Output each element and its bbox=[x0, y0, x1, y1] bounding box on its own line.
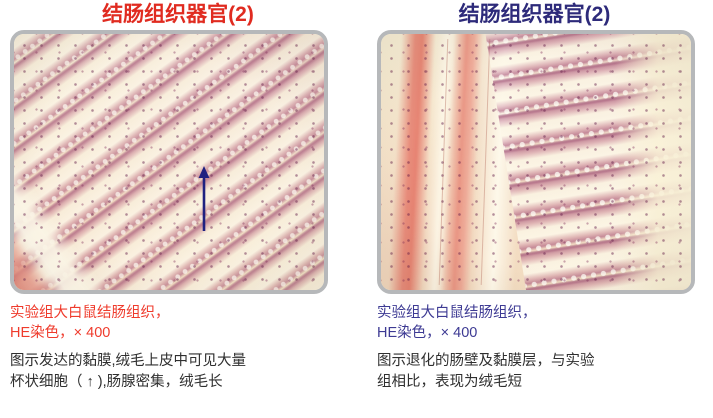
panel-control: 结肠组织器官(2) 实验组大白鼠结肠组织， HE染色，× 400 图示退化的肠壁… bbox=[356, 0, 713, 418]
up-arrow-annotation-icon bbox=[197, 165, 211, 231]
page-title-left: 结肠组织器官(2) bbox=[0, 0, 356, 30]
figure-description-left: 图示发达的黏膜,绒毛上皮中可见大量 杯状细胞（ ↑ ),肠腺密集，绒毛长 bbox=[10, 351, 356, 393]
micrograph-image-right bbox=[381, 34, 691, 290]
figure-caption-left: 实验组大白鼠结肠组织， HE染色，× 400 bbox=[10, 303, 356, 343]
comparison-board: 结肠组织器官(2) 实验组大白鼠结肠组织， HE染色，× 400 图示发达的黏膜… bbox=[0, 0, 713, 418]
panel-experimental: 结肠组织器官(2) 实验组大白鼠结肠组织， HE染色，× 400 图示发达的黏膜… bbox=[0, 0, 356, 418]
vignette bbox=[381, 34, 691, 290]
vignette bbox=[14, 34, 324, 290]
page-title-right: 结肠组织器官(2) bbox=[356, 0, 713, 30]
micrograph-image-left bbox=[14, 34, 324, 290]
figure-caption-right: 实验组大白鼠结肠组织， HE染色，× 400 bbox=[377, 303, 713, 343]
figure-description-right: 图示退化的肠壁及黏膜层，与实验 组相比，表现为绒毛短 bbox=[377, 351, 713, 393]
micrograph-frame-left bbox=[10, 30, 328, 294]
micrograph-frame-right bbox=[377, 30, 695, 294]
